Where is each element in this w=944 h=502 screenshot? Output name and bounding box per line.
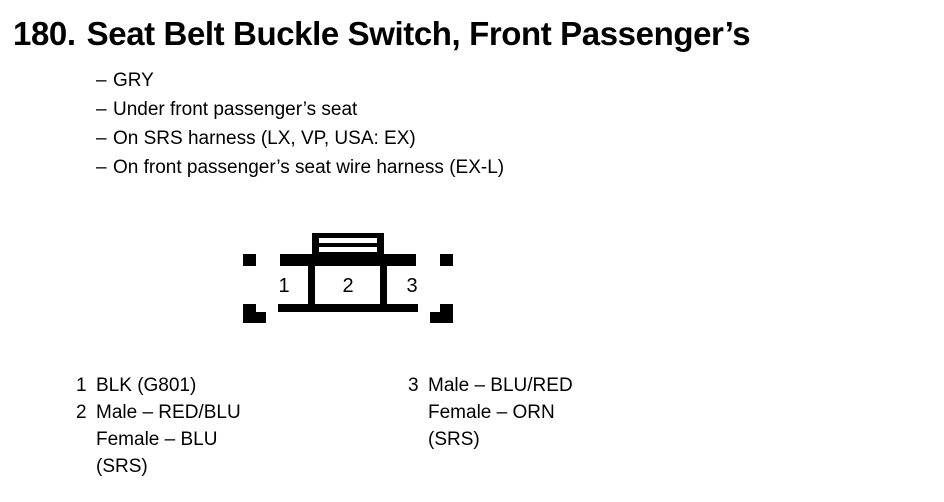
connector-diagram: 1 2 3 (240, 228, 456, 328)
list-item: –On front passenger’s seat wire harness … (96, 153, 504, 182)
pin-legend-left: 1 BLK (G801) 2 Male – RED/BLU Female – B… (76, 372, 241, 480)
list-item-label: GRY (113, 70, 154, 91)
cavity-divider-2-3 (380, 266, 387, 304)
dash-icon: – (96, 153, 113, 182)
list-item: –GRY (96, 66, 504, 95)
list-item-label: On front passenger’s seat wire harness (… (113, 157, 504, 178)
dash-icon: – (96, 95, 113, 124)
connector-outline-icon: 1 2 3 (240, 228, 456, 328)
left-foot-notch (256, 304, 278, 312)
legend-line: Female – BLU (96, 426, 241, 453)
right-foot-notch (418, 304, 440, 312)
list-item: –On SRS harness (LX, VP, USA: EX) (96, 124, 504, 153)
page-canvas: 180.Seat Belt Buckle Switch, Front Passe… (0, 0, 944, 502)
legend-line: (SRS) (96, 453, 241, 480)
list-item: –Under front passenger’s seat (96, 95, 504, 124)
legend-line: (SRS) (428, 426, 573, 453)
tab-slot-upper (319, 238, 377, 243)
dash-icon: – (96, 66, 113, 95)
tab-slot-lower (319, 247, 377, 252)
legend-line: Male – BLU/RED (428, 372, 573, 399)
legend-line: Male – RED/BLU (96, 399, 241, 426)
legend-entry: 2 Male – RED/BLU Female – BLU (SRS) (76, 399, 241, 480)
left-shoulder-notch (256, 254, 280, 266)
legend-pin-number: 3 (408, 372, 419, 399)
cavity-label-2: 2 (342, 275, 353, 297)
cavity-label-1: 1 (278, 275, 289, 297)
cavity-label-3: 3 (406, 275, 417, 297)
cavity-divider-1-2 (308, 266, 315, 304)
page-title-text: Seat Belt Buckle Switch, Front Passenger… (87, 15, 751, 52)
page-title-number: 180. (13, 17, 76, 50)
legend-entry: 1 BLK (G801) (76, 372, 241, 399)
legend-line: BLK (G801) (96, 372, 241, 399)
list-item-label: Under front passenger’s seat (113, 99, 357, 120)
pin-legend-right: 3 Male – BLU/RED Female – ORN (SRS) (408, 372, 573, 453)
legend-pin-number: 2 (76, 399, 87, 426)
page-title: 180.Seat Belt Buckle Switch, Front Passe… (13, 17, 750, 50)
legend-entry: 3 Male – BLU/RED Female – ORN (SRS) (408, 372, 573, 453)
list-item-label: On SRS harness (LX, VP, USA: EX) (113, 128, 416, 149)
right-shoulder-notch (416, 254, 440, 266)
legend-pin-number: 1 (76, 372, 87, 399)
description-list: –GRY –Under front passenger’s seat –On S… (96, 66, 504, 182)
dash-icon: – (96, 124, 113, 153)
legend-line: Female – ORN (428, 399, 573, 426)
